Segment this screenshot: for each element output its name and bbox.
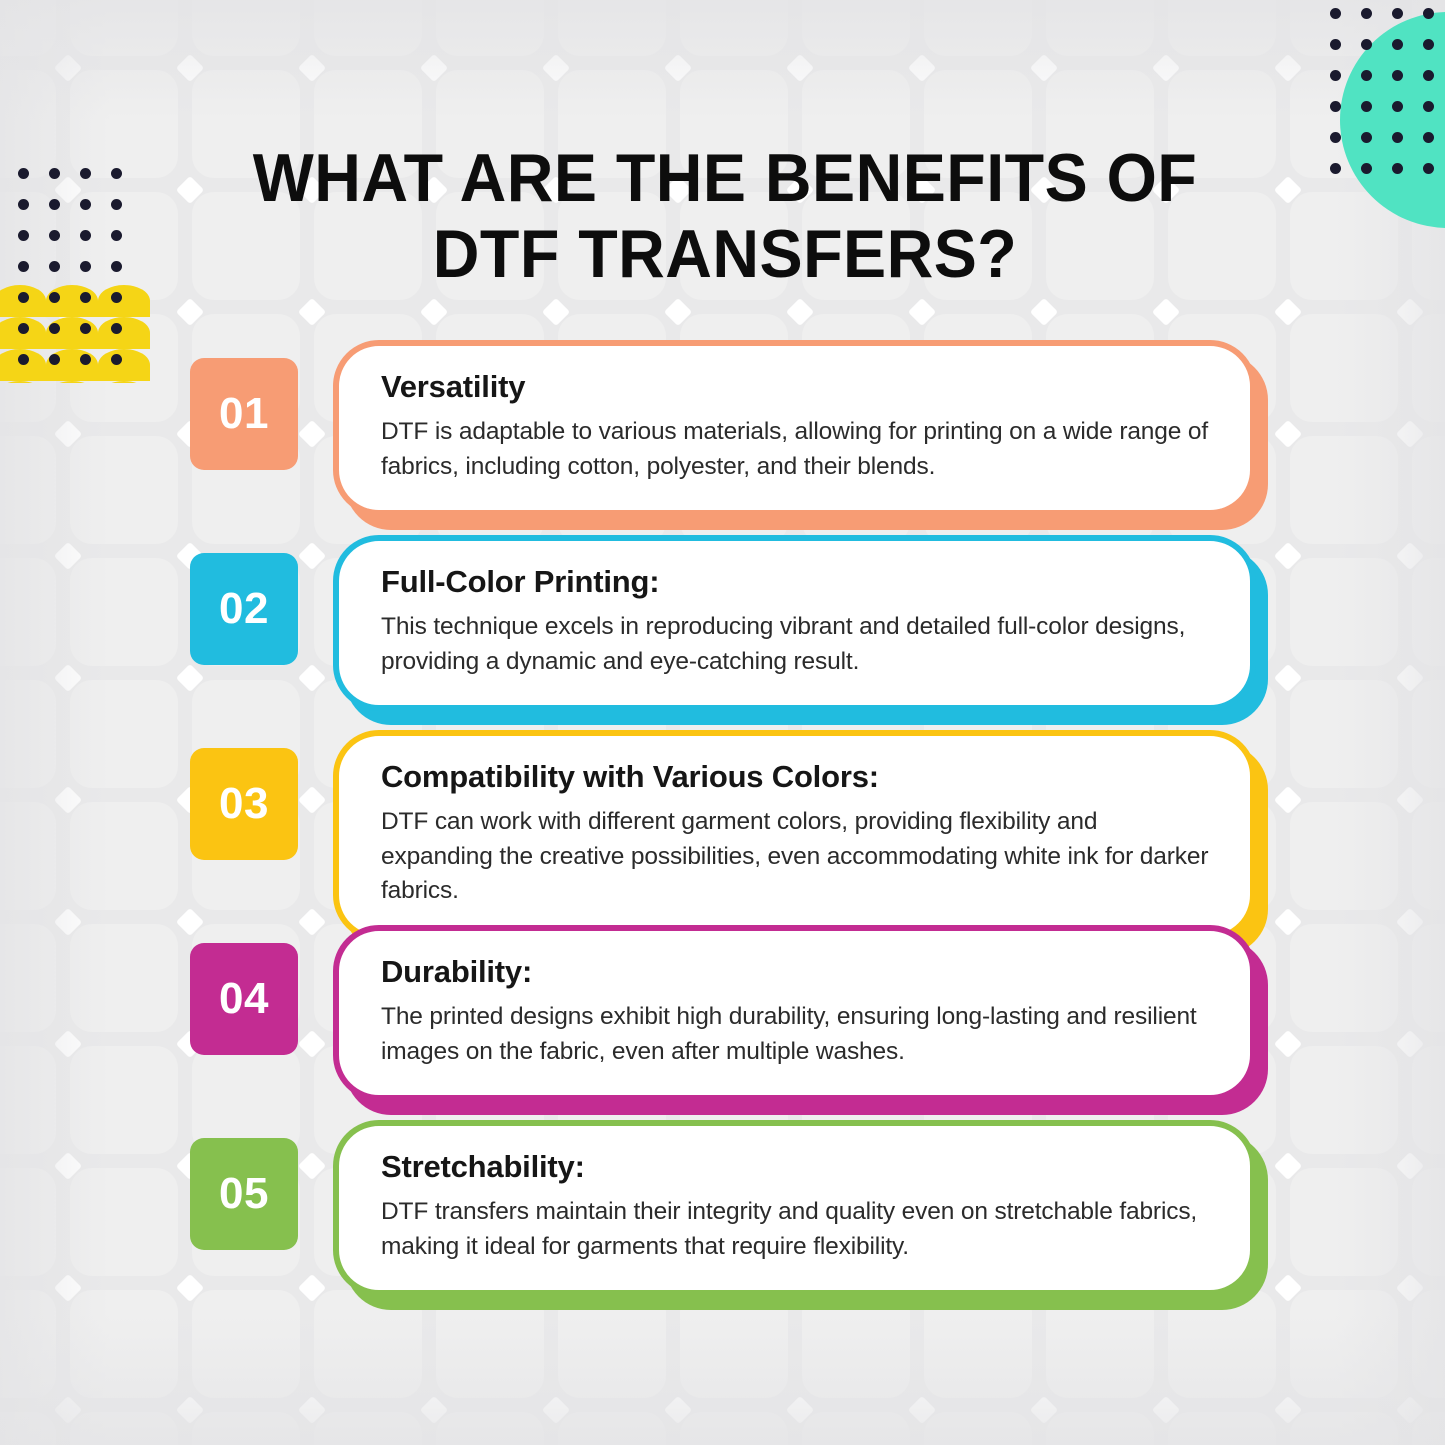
background-cell bbox=[1290, 192, 1398, 300]
dot-grid-top-right-dot bbox=[1423, 163, 1434, 174]
benefit-description: The printed designs exhibit high durabil… bbox=[381, 1000, 1210, 1070]
background-cell bbox=[802, 1412, 910, 1445]
dot-grid-left-dot bbox=[111, 292, 122, 303]
dot-grid-top-right-dot bbox=[1392, 163, 1403, 174]
benefit-row: 02Full-Color Printing:This technique exc… bbox=[0, 535, 1445, 730]
page-title: WHAT ARE THE BENEFITS OF DTF TRANSFERS? bbox=[203, 140, 1248, 292]
background-cell bbox=[0, 70, 56, 178]
dot-grid-top-right-dot bbox=[1330, 101, 1341, 112]
dot-grid-top-right-dot bbox=[1361, 101, 1372, 112]
benefit-number: 02 bbox=[219, 584, 269, 634]
background-cell bbox=[1290, 1412, 1398, 1445]
benefit-title: Full-Color Printing: bbox=[381, 563, 1210, 602]
dot-grid-left-dot bbox=[49, 168, 60, 179]
dot-grid-left-dot bbox=[18, 168, 29, 179]
dot-grid-top-right-dot bbox=[1330, 132, 1341, 143]
dot-grid-top-right-dot bbox=[1361, 70, 1372, 81]
dot-grid-top-right-dot bbox=[1330, 8, 1341, 19]
background-cell bbox=[436, 0, 544, 56]
dot-grid-left-dot bbox=[18, 261, 29, 272]
dot-grid-top-right-dot bbox=[1392, 70, 1403, 81]
background-cell bbox=[802, 0, 910, 56]
benefit-description: This technique excels in reproducing vib… bbox=[381, 610, 1210, 680]
background-cell bbox=[680, 0, 788, 56]
background-cell bbox=[314, 1412, 422, 1445]
infographic-canvas: WHAT ARE THE BENEFITS OF DTF TRANSFERS? … bbox=[0, 0, 1445, 1445]
dot-grid-left-dot bbox=[111, 230, 122, 241]
dot-grid-top-right-dot bbox=[1423, 101, 1434, 112]
benefit-card[interactable]: Durability:The printed designs exhibit h… bbox=[333, 925, 1256, 1101]
dot-grid-top-right-dot bbox=[1392, 39, 1403, 50]
benefit-number-badge[interactable]: 04 bbox=[190, 943, 298, 1055]
dot-grid-top-right-dot bbox=[1392, 132, 1403, 143]
background-cell bbox=[70, 70, 178, 178]
benefit-card[interactable]: VersatilityDTF is adaptable to various m… bbox=[333, 340, 1256, 516]
dot-grid-top-right-dot bbox=[1330, 39, 1341, 50]
background-cell bbox=[558, 0, 666, 56]
background-cell bbox=[192, 0, 300, 56]
dot-grid-left-dot bbox=[49, 230, 60, 241]
dot-grid-left-dot bbox=[80, 199, 91, 210]
background-cell bbox=[70, 1412, 178, 1445]
background-cell bbox=[192, 1412, 300, 1445]
benefit-row: 03Compatibility with Various Colors:DTF … bbox=[0, 730, 1445, 925]
benefit-card-wrapper: VersatilityDTF is adaptable to various m… bbox=[333, 340, 1256, 516]
background-cell bbox=[314, 0, 422, 56]
dot-grid-left-dot bbox=[111, 323, 122, 334]
semicircle bbox=[98, 285, 150, 317]
benefit-number-badge[interactable]: 02 bbox=[190, 553, 298, 665]
benefit-title: Versatility bbox=[381, 368, 1210, 407]
benefit-card-wrapper: Full-Color Printing:This technique excel… bbox=[333, 535, 1256, 711]
benefits-list: 01VersatilityDTF is adaptable to various… bbox=[0, 340, 1445, 1315]
background-cell bbox=[0, 192, 56, 300]
dot-grid-left-dot bbox=[80, 261, 91, 272]
benefit-card-wrapper: Stretchability:DTF transfers maintain th… bbox=[333, 1120, 1256, 1296]
background-cell bbox=[924, 0, 1032, 56]
benefit-title: Durability: bbox=[381, 953, 1210, 992]
background-cell bbox=[0, 0, 56, 56]
dot-grid-left-dot bbox=[18, 323, 29, 334]
dot-grid-left-dot bbox=[111, 168, 122, 179]
dot-grid-top-right-dot bbox=[1361, 39, 1372, 50]
benefit-number: 05 bbox=[219, 1169, 269, 1219]
background-cell bbox=[924, 1412, 1032, 1445]
benefit-title: Compatibility with Various Colors: bbox=[381, 758, 1210, 797]
background-cell bbox=[1046, 1412, 1154, 1445]
benefit-description: DTF can work with different garment colo… bbox=[381, 805, 1210, 909]
background-cell bbox=[70, 0, 178, 56]
benefit-number-badge[interactable]: 05 bbox=[190, 1138, 298, 1250]
dot-grid-left-dot bbox=[80, 323, 91, 334]
benefit-description: DTF transfers maintain their integrity a… bbox=[381, 1195, 1210, 1265]
benefit-card[interactable]: Stretchability:DTF transfers maintain th… bbox=[333, 1120, 1256, 1296]
benefit-number-badge[interactable]: 03 bbox=[190, 748, 298, 860]
dot-grid-left-dot bbox=[80, 168, 91, 179]
dot-grid-top-right-dot bbox=[1392, 101, 1403, 112]
background-cell bbox=[1046, 0, 1154, 56]
background-cell bbox=[0, 1412, 56, 1445]
dot-grid-left-dot bbox=[18, 230, 29, 241]
background-cell bbox=[1168, 1412, 1276, 1445]
benefit-card-wrapper: Durability:The printed designs exhibit h… bbox=[333, 925, 1256, 1101]
benefit-number-badge[interactable]: 01 bbox=[190, 358, 298, 470]
benefit-row: 05Stretchability:DTF transfers maintain … bbox=[0, 1120, 1445, 1315]
background-cell bbox=[680, 1412, 788, 1445]
benefit-row: 04Durability:The printed designs exhibit… bbox=[0, 925, 1445, 1120]
benefit-number: 04 bbox=[219, 974, 269, 1024]
benefit-card[interactable]: Compatibility with Various Colors:DTF ca… bbox=[333, 730, 1256, 941]
dot-grid-top-right-dot bbox=[1330, 70, 1341, 81]
background-cell bbox=[1168, 0, 1276, 56]
background-cell bbox=[436, 1412, 544, 1445]
dot-grid-left-dot bbox=[111, 199, 122, 210]
benefit-card-wrapper: Compatibility with Various Colors:DTF ca… bbox=[333, 730, 1256, 941]
benefit-description: DTF is adaptable to various materials, a… bbox=[381, 415, 1210, 485]
dot-grid-left-dot bbox=[49, 261, 60, 272]
dot-grid-left-dot bbox=[49, 323, 60, 334]
dot-grid-left-dot bbox=[80, 230, 91, 241]
dot-grid-left-dot bbox=[49, 292, 60, 303]
dot-grid-left-dot bbox=[49, 199, 60, 210]
benefit-row: 01VersatilityDTF is adaptable to various… bbox=[0, 340, 1445, 535]
benefit-card[interactable]: Full-Color Printing:This technique excel… bbox=[333, 535, 1256, 711]
dot-grid-top-right-dot bbox=[1423, 39, 1434, 50]
dot-grid-left-dot bbox=[80, 292, 91, 303]
dot-grid-top-right-dot bbox=[1361, 8, 1372, 19]
dot-grid-top-right-dot bbox=[1361, 132, 1372, 143]
dot-grid-left-dot bbox=[18, 292, 29, 303]
benefit-number: 03 bbox=[219, 779, 269, 829]
dot-grid-top-right-dot bbox=[1392, 8, 1403, 19]
benefit-title: Stretchability: bbox=[381, 1148, 1210, 1187]
dot-grid-top-right-dot bbox=[1423, 70, 1434, 81]
background-cell bbox=[558, 1412, 666, 1445]
dot-grid-top-right-dot bbox=[1330, 163, 1341, 174]
benefit-number: 01 bbox=[219, 389, 269, 439]
dot-grid-top-right-dot bbox=[1423, 8, 1434, 19]
dot-grid-top-right-dot bbox=[1423, 132, 1434, 143]
dot-grid-left-dot bbox=[111, 261, 122, 272]
dot-grid-top-right-dot bbox=[1361, 163, 1372, 174]
dot-grid-left-dot bbox=[18, 199, 29, 210]
